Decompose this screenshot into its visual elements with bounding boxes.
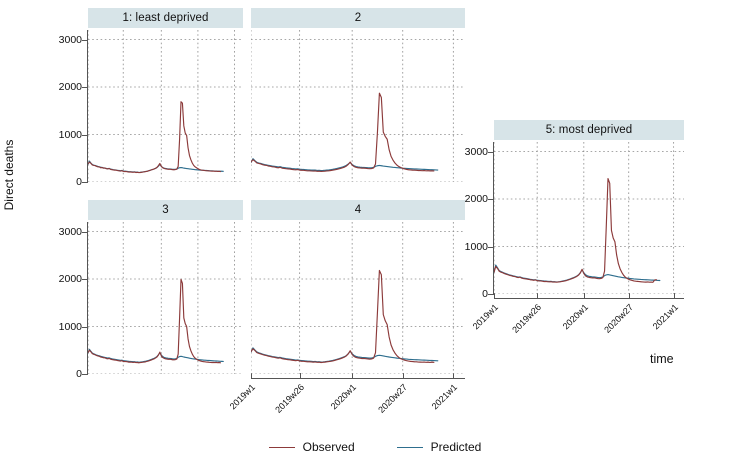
legend-line-observed — [269, 447, 295, 448]
x-tick-label: 2020w27 — [376, 382, 409, 415]
panel-4: 4 — [251, 200, 465, 374]
x-tick-label: 2020w1 — [561, 302, 590, 331]
panel-2-plot — [251, 30, 465, 182]
panel-4-series-predicted — [251, 348, 438, 362]
panel-1-series-observed — [88, 102, 220, 173]
panel-3-series-observed — [88, 279, 220, 362]
panel-4-plot — [251, 222, 465, 374]
panel-5: 5: most deprived — [494, 120, 684, 294]
legend-label-observed: Observed — [303, 440, 355, 454]
y-tick-mark — [82, 182, 88, 183]
panel-4-series-observed — [251, 270, 434, 362]
panel-4-svg — [251, 222, 465, 374]
y-axis-ticks-row2: 0100020003000 — [24, 222, 82, 374]
legend: Observed Predicted — [0, 440, 750, 454]
x-axis-title: time — [650, 352, 674, 366]
panel-1-svg — [88, 30, 243, 182]
panel-2-svg — [251, 30, 465, 182]
x-tick-label: 2019w26 — [273, 382, 306, 415]
x-tick-label: 2019w1 — [228, 382, 257, 411]
x-axis-spine — [251, 378, 465, 379]
panel-2-series-predicted — [251, 159, 438, 171]
y-tick-label: 2000 — [59, 81, 82, 93]
legend-label-predicted: Predicted — [431, 440, 482, 454]
y-tick-label: 1000 — [59, 129, 82, 141]
panel-4-title: 4 — [251, 200, 465, 220]
panel-5-series-predicted — [494, 265, 660, 282]
panel-3: 3 — [88, 200, 243, 374]
x-axis-spine — [494, 298, 684, 299]
x-tick-label: 2020w1 — [329, 382, 358, 411]
panel-3-title: 3 — [88, 200, 243, 220]
legend-line-predicted — [397, 447, 423, 448]
panel-5-series-observed — [494, 179, 656, 283]
y-tick-label: 1000 — [59, 321, 82, 333]
panel-2-series-observed — [251, 93, 434, 171]
panel-3-plot — [88, 222, 243, 374]
x-tick-label: 2020w27 — [602, 302, 635, 335]
figure-canvas: Direct deaths time 0100020003000 0100020… — [0, 0, 750, 467]
y-tick-label: 1000 — [465, 241, 488, 253]
y-axis-title: Direct deaths — [2, 105, 16, 245]
y-tick-label: 3000 — [59, 34, 82, 46]
panel-3-svg — [88, 222, 243, 374]
panel-5-svg — [494, 142, 684, 294]
panel-1-title: 1: least deprived — [88, 8, 243, 28]
y-tick-label: 3000 — [59, 226, 82, 238]
y-axis-ticks-row1: 0100020003000 — [24, 30, 82, 182]
x-tick-label: 2021w1 — [650, 302, 679, 331]
x-tick-label: 2019w1 — [471, 302, 500, 331]
panel-3-series-predicted — [88, 349, 223, 362]
y-tick-mark — [82, 374, 88, 375]
y-tick-label: 3000 — [465, 146, 488, 158]
x-tick-label: 2019w26 — [510, 302, 543, 335]
panel-5-plot — [494, 142, 684, 294]
y-tick-label: 2000 — [59, 273, 82, 285]
panel-2: 2 — [251, 8, 465, 182]
legend-item-observed: Observed — [269, 440, 355, 454]
legend-item-predicted: Predicted — [397, 440, 482, 454]
panel-5-title: 5: most deprived — [494, 120, 684, 140]
y-tick-label: 2000 — [465, 193, 488, 205]
panel-1-plot — [88, 30, 243, 182]
panel-2-title: 2 — [251, 8, 465, 28]
panel-1: 1: least deprived — [88, 8, 243, 182]
x-tick-label: 2021w1 — [430, 382, 459, 411]
